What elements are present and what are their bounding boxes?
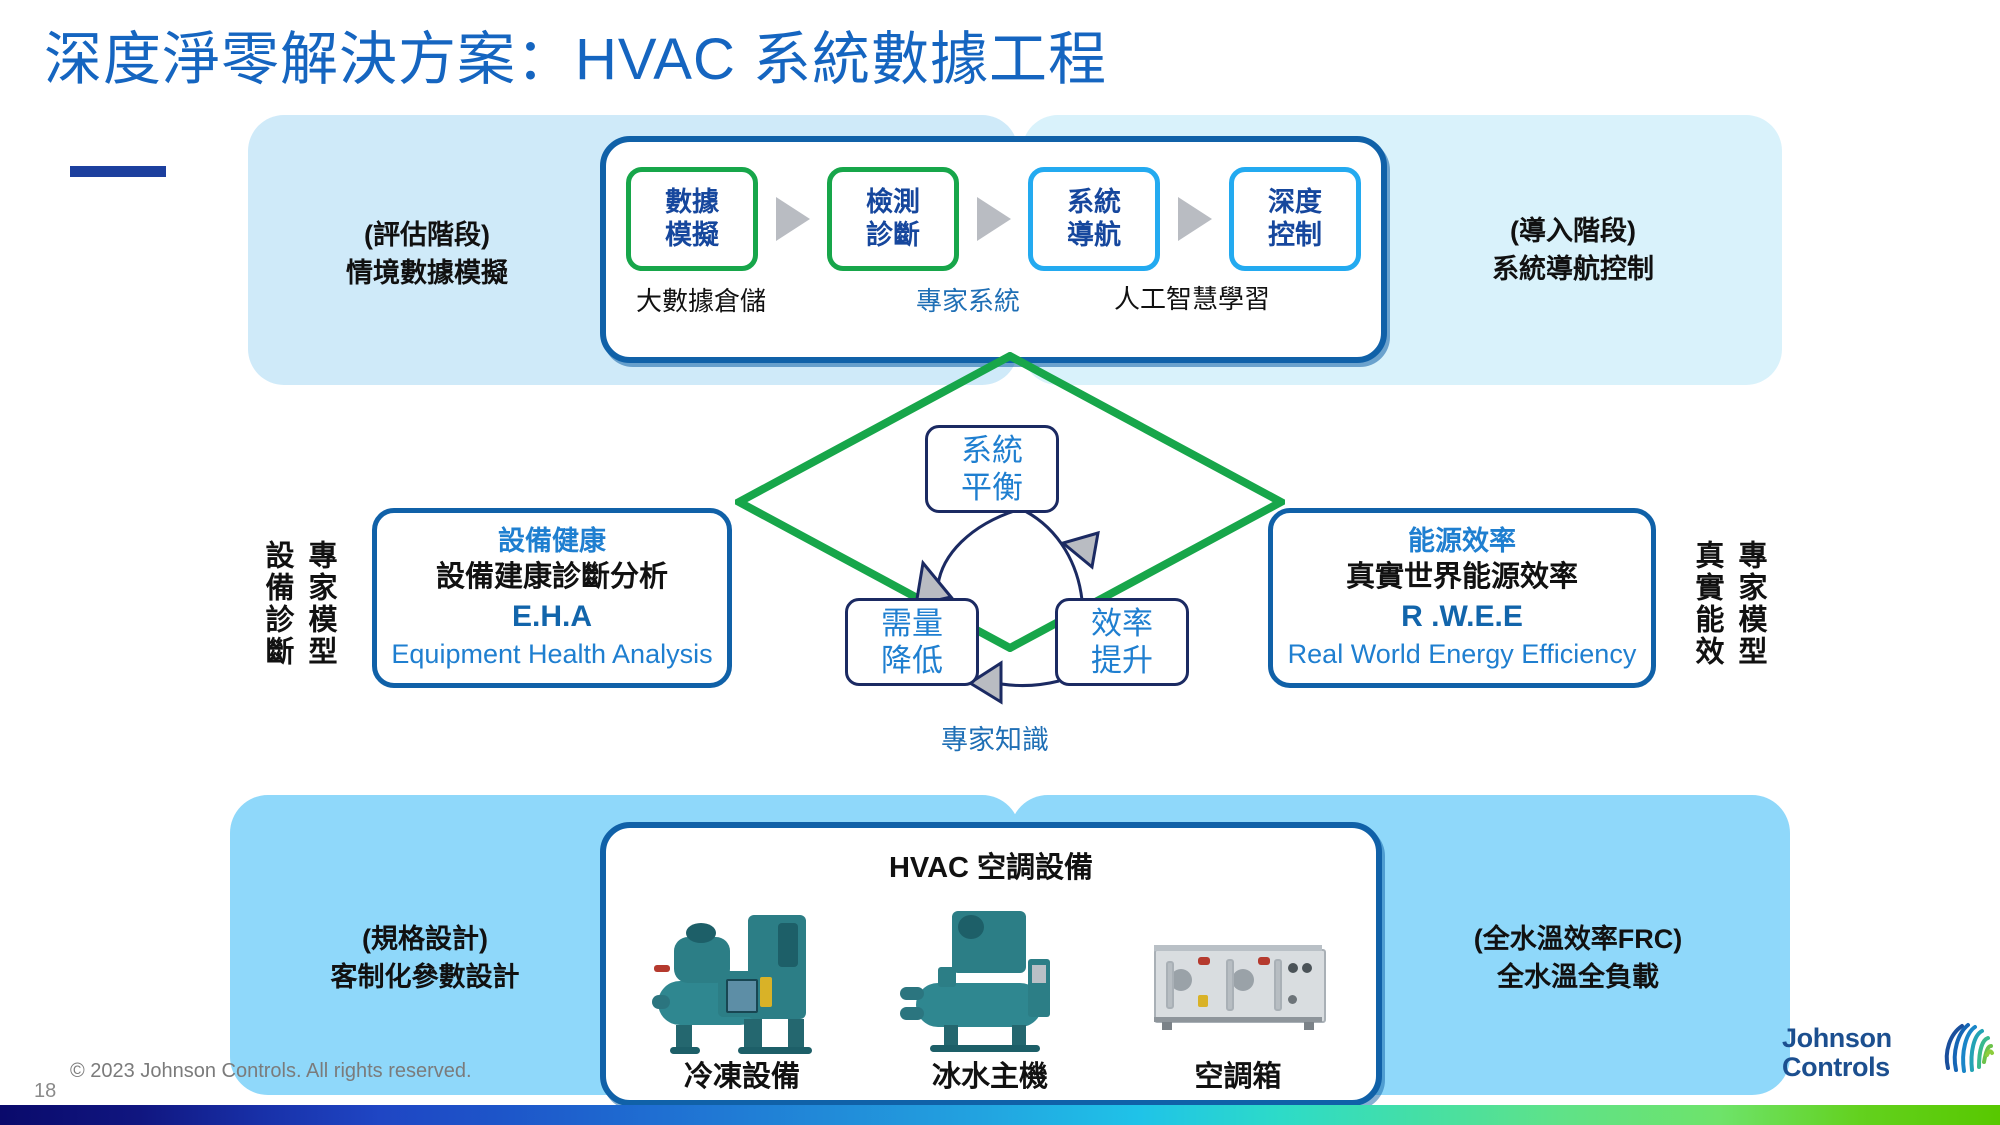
bottom-right-line2: 全水溫全負載 (1398, 958, 1758, 996)
air-handling-unit-image (1148, 907, 1328, 1057)
cycle-node-efficiency-gain[interactable]: 效率 提升 (1055, 598, 1189, 686)
title-underline-accent (70, 166, 166, 177)
flow-step-2-line2: 診斷 (866, 219, 920, 252)
flow-step-system-navigation[interactable]: 系統 導航 (1028, 167, 1160, 271)
flow-step-1-line2: 模擬 (665, 219, 719, 252)
left-vertical-inner: 專家模型 (305, 540, 334, 668)
bottom-right-line1: (全水溫效率FRC) (1398, 920, 1758, 958)
top-left-stage-line1: (評估階段) (262, 216, 592, 254)
chiller-image (900, 907, 1080, 1057)
right-vertical-labels: 真實能效 專家模型 (1692, 540, 1764, 668)
page-number: 18 (34, 1080, 56, 1103)
process-flow-card: 數據 模擬 檢測 診斷 系統 導航 深度 控制 大數據倉儲 專家系統 人工智慧學… (600, 136, 1387, 363)
equipment-item-chiller[interactable]: 冰水主機 (885, 907, 1095, 1092)
slide-canvas: 深度淨零解決方案：HVAC 系統數據工程 (評估階段) 情境數據模擬 (導入階段… (0, 0, 2000, 1125)
hvac-equipment-card: HVAC 空調設備 (600, 822, 1382, 1106)
equipment-caption-1: 冷凍設備 (637, 1063, 847, 1092)
right-vertical-outer: 專家模型 (1735, 540, 1764, 668)
cycle-br-line1: 效率 (1091, 605, 1153, 642)
copyright-text: © 2023 Johnson Controls. All rights rese… (70, 1060, 472, 1083)
process-flow-captions: 大數據倉儲 專家系統 人工智慧學習 (614, 280, 1373, 330)
johnson-controls-globe-icon (1934, 1018, 1996, 1080)
right-vertical-inner: 真實能效 (1692, 540, 1721, 668)
equipment-item-refrigeration[interactable]: 冷凍設備 (637, 907, 847, 1092)
bottom-right-stage-label: (全水溫效率FRC) 全水溫全負載 (1398, 920, 1758, 997)
flow-step-detection-diagnosis[interactable]: 檢測 診斷 (827, 167, 959, 271)
cycle-bl-line1: 需量 (881, 605, 943, 642)
johnson-controls-logo: Johnson Controls (1782, 1018, 1982, 1094)
logo-line2: Controls (1782, 1053, 1892, 1082)
logo-wordmark: Johnson Controls (1782, 1024, 1892, 1081)
cycle-node-demand-reduction[interactable]: 需量 降低 (845, 598, 979, 686)
flow-step-3-line2: 導航 (1067, 219, 1121, 252)
equipment-health-box[interactable]: 設備健康 設備建康診斷分析 E.H.A Equipment Health Ana… (372, 508, 732, 688)
top-left-stage-line2: 情境數據模擬 (262, 254, 592, 292)
top-left-stage-label: (評估階段) 情境數據模擬 (262, 216, 592, 293)
energy-efficiency-box[interactable]: 能源效率 真實世界能源效率 R .W.E.E Real World Energy… (1268, 508, 1656, 688)
top-right-stage-line1: (導入階段) (1408, 212, 1738, 250)
eha-english: Equipment Health Analysis (391, 637, 712, 672)
bottom-left-stage-label: (規格設計) 客制化參數設計 (250, 920, 600, 997)
left-vertical-labels: 設備診斷 專家模型 (262, 540, 334, 668)
process-flow-steps: 數據 模擬 檢測 診斷 系統 導航 深度 控制 (614, 164, 1373, 274)
flow-step-2-line1: 檢測 (866, 186, 920, 219)
cycle-top-line1: 系統 (961, 432, 1023, 469)
cycle-node-system-balance[interactable]: 系統 平衡 (925, 425, 1059, 513)
flow-step-3-line1: 系統 (1067, 186, 1121, 219)
bottom-left-line1: (規格設計) (250, 920, 600, 958)
flow-caption-big-data: 大數據倉儲 (636, 288, 766, 314)
top-right-stage-line2: 系統導航控制 (1408, 250, 1738, 288)
arrow-right-icon-1 (776, 197, 810, 241)
arrow-right-icon-3 (1178, 197, 1212, 241)
refrigeration-unit-image (652, 907, 832, 1057)
bottom-left-line2: 客制化參數設計 (250, 958, 600, 996)
logo-line1: Johnson (1782, 1024, 1892, 1053)
flow-step-deep-control[interactable]: 深度 控制 (1229, 167, 1361, 271)
eha-acronym: E.H.A (512, 597, 592, 638)
bottom-gradient-bar (0, 1105, 2000, 1125)
flow-caption-expert-system: 專家系統 (916, 288, 1020, 314)
flow-step-1-line1: 數據 (665, 186, 719, 219)
cycle-bl-line2: 降低 (881, 642, 943, 679)
flow-step-4-line1: 深度 (1268, 186, 1322, 219)
eha-subtitle: 設備建康診斷分析 (436, 559, 668, 597)
flow-step-4-line2: 控制 (1268, 219, 1322, 252)
rwee-english: Real World Energy Efficiency (1288, 637, 1637, 672)
equipment-item-ahu[interactable]: 空調箱 (1133, 907, 1343, 1092)
arrow-right-icon-2 (977, 197, 1011, 241)
cycle-top-line2: 平衡 (961, 469, 1023, 506)
left-vertical-outer: 設備診斷 (262, 540, 291, 668)
equipment-caption-3: 空調箱 (1133, 1063, 1343, 1092)
flow-caption-ai-learning: 人工智慧學習 (1114, 286, 1270, 312)
rwee-heading: 能源效率 (1408, 524, 1516, 559)
equipment-caption-2: 冰水主機 (885, 1063, 1095, 1092)
rwee-subtitle: 真實世界能源效率 (1346, 559, 1578, 597)
eha-heading: 設備健康 (498, 524, 606, 559)
cycle-br-line2: 提升 (1091, 642, 1153, 679)
top-right-stage-label: (導入階段) 系統導航控制 (1408, 212, 1738, 289)
cycle-label-expert-knowledge: 專家知識 (905, 718, 1085, 757)
rwee-acronym: R .W.E.E (1401, 597, 1523, 638)
page-title: 深度淨零解決方案：HVAC 系統數據工程 (44, 28, 1107, 92)
flow-step-data-simulation[interactable]: 數據 模擬 (626, 167, 758, 271)
hvac-equipment-list: 冷凍設備 冰水主機 (618, 880, 1362, 1092)
